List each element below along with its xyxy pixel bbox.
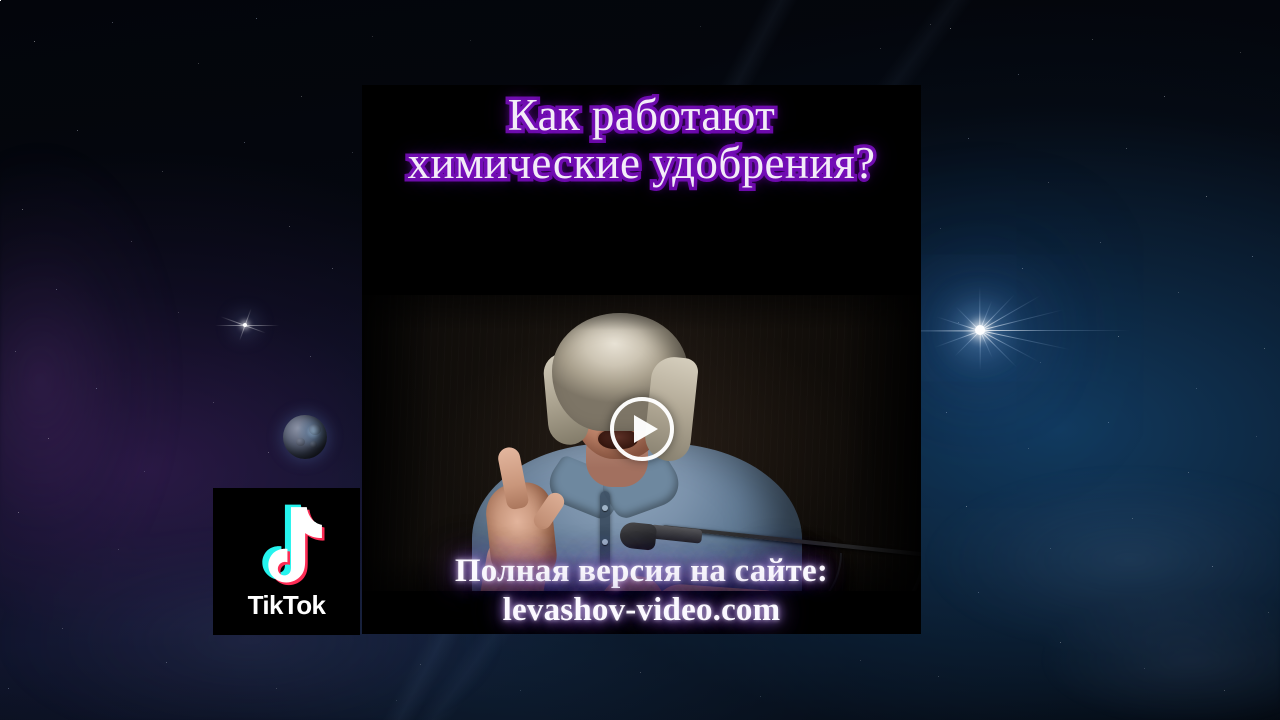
star-ray — [954, 330, 980, 356]
star-ray — [980, 330, 1070, 350]
star-ray — [245, 325, 279, 326]
star-ray — [215, 325, 245, 326]
caption-line-1: Полная версия на сайте: — [455, 552, 828, 591]
planet-icon — [283, 415, 327, 459]
video-title: Как работают химические удобрения? — [362, 85, 921, 207]
star-ray — [980, 295, 1041, 331]
star-ray — [220, 316, 245, 326]
planet-crater — [296, 438, 305, 446]
tiktok-badge[interactable]: TikTok — [213, 488, 360, 635]
play-icon — [634, 415, 658, 443]
star-ray — [955, 306, 980, 331]
shirt-button — [602, 539, 608, 545]
star-ray — [979, 330, 992, 358]
star-core — [975, 325, 985, 335]
star-ray — [980, 309, 1064, 331]
star-ray — [980, 330, 1018, 368]
starfield-edges — [0, 0, 1, 1]
play-button[interactable] — [610, 397, 674, 461]
video-share-card[interactable]: Как работают химические удобрения? — [362, 85, 921, 634]
tiktok-logo-icon — [244, 502, 330, 588]
video-title-line-1: Как работают — [508, 93, 775, 139]
screen-canvas: Как работают химические удобрения? — [0, 0, 1280, 720]
star-ray — [979, 331, 980, 371]
star-ray — [245, 325, 266, 333]
video-player-frame[interactable] — [362, 295, 921, 591]
star-ray — [239, 325, 245, 340]
caption-line-2[interactable]: levashov-video.com — [503, 591, 781, 630]
small-star-core — [243, 323, 247, 327]
star-ray — [935, 330, 981, 348]
star-ray — [936, 316, 980, 332]
planet-crater — [309, 424, 321, 435]
star-ray — [979, 294, 1015, 331]
video-title-line-2: химические удобрения? — [408, 141, 876, 187]
planet-crater — [310, 441, 317, 448]
starfield-right — [0, 0, 1, 1]
shirt-button — [602, 505, 608, 511]
tiktok-wordmark: TikTok — [248, 590, 326, 621]
star-ray — [980, 330, 1130, 331]
starfield-left — [0, 0, 1, 1]
star-ray — [245, 308, 252, 325]
star-ray — [979, 301, 992, 331]
video-caption: Полная версия на сайте: levashov-video.c… — [362, 552, 921, 630]
star-ray — [979, 287, 980, 331]
star-ray — [980, 330, 1039, 362]
